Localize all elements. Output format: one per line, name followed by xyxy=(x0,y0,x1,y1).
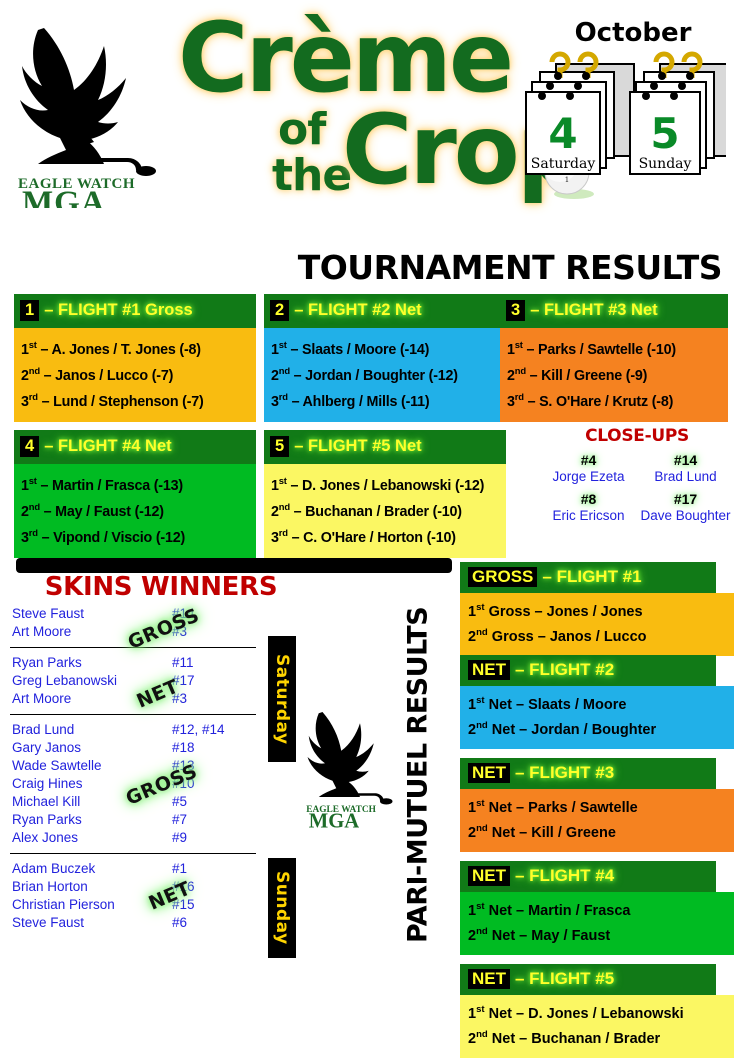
flight-body: 1st – D. Jones / Lebanowski (-12)2nd – B… xyxy=(264,464,506,558)
parimutuel-header: GROSS– FLIGHT #1 xyxy=(460,562,716,593)
skins-row: Steve Faust#14 xyxy=(8,604,258,622)
flight-number-badge: 1 xyxy=(20,300,39,321)
parimutuel-body: 1st Net – Slaats / Moore2nd Net – Jordan… xyxy=(460,686,734,749)
skins-hole: #5 xyxy=(172,794,187,809)
parimutuel-body: 1st Net – D. Jones / Lebanowski2nd Net –… xyxy=(460,995,734,1058)
closeups-grid: #4Jorge Ezeta#14Brad Lund#8Eric Ericson#… xyxy=(540,452,734,530)
skins-player-name: Brad Lund xyxy=(8,722,172,737)
calendar-day-number: 5 xyxy=(650,109,679,158)
parimutuel-result-row: 1st Net – Martin / Frasca xyxy=(468,898,732,923)
flight-result-row: 3rd – S. O'Hare / Krutz (-8) xyxy=(507,388,721,414)
parimutuel-title: – FLIGHT #1 xyxy=(542,567,641,587)
skins-row: Brad Lund#12, #14 xyxy=(8,720,258,738)
flight-result-row: 2nd – Janos / Lucco (-7) xyxy=(21,361,249,387)
parimutuel-title: – FLIGHT #2 xyxy=(515,660,614,680)
tournament-results-title: TOURNAMENT RESULTS xyxy=(0,248,722,287)
flight-number-badge: 5 xyxy=(270,436,289,457)
parimutuel-tag: NET xyxy=(468,969,510,989)
flight-header-2: 2– FLIGHT #2 Net xyxy=(264,294,506,328)
parimutuel-body: 1st Net – Parks / Sawtelle2nd Net – Kill… xyxy=(460,789,734,852)
skins-group: Brad Lund#12, #14Gary Janos#18Wade Sawte… xyxy=(8,720,258,849)
parimutuel-header: NET– FLIGHT #4 xyxy=(460,861,716,892)
skins-player-name: Wade Sawtelle xyxy=(8,758,172,773)
flight-number-badge: 4 xyxy=(20,436,39,457)
flight-result-row: 1st – Slaats / Moore (-14) xyxy=(271,335,499,361)
flight-result-row: 3rd – Lund / Stephenson (-7) xyxy=(21,388,249,414)
parimutuel-title: – FLIGHT #3 xyxy=(515,763,614,783)
flight-card-4: 4– FLIGHT #4 Net1st – Martin / Frasca (-… xyxy=(14,430,256,558)
parimutuel-result-row: 1st Net – Parks / Sawtelle xyxy=(468,795,732,820)
closeup-name: Dave Boughter xyxy=(637,508,734,523)
closeup-hole: #17 xyxy=(637,491,734,507)
flight-result-row: 2nd – Buchanan / Brader (-10) xyxy=(271,497,499,523)
flight-title: – FLIGHT #3 Net xyxy=(530,301,657,320)
closeup-entry: #17Dave Boughter xyxy=(637,491,734,523)
flight-header-3: 3– FLIGHT #3 Net xyxy=(500,294,728,328)
flight-result-row: 3rd – Ahlberg / Mills (-11) xyxy=(271,388,499,414)
parimutuel-card-4: NET– FLIGHT #41st Net – Martin / Frasca2… xyxy=(460,861,716,955)
flight-result-row: 1st – Parks / Sawtelle (-10) xyxy=(507,335,721,361)
parimutuel-vertical-title: PARI-MUTUEL RESULTS xyxy=(398,600,438,950)
skins-hole: #7 xyxy=(172,812,187,827)
closeup-name: Jorge Ezeta xyxy=(540,469,637,484)
calendar-month: October xyxy=(568,18,698,48)
title-the: the xyxy=(272,154,351,198)
day-label-sunday: Sunday xyxy=(268,858,296,958)
flight-title: – FLIGHT #4 Net xyxy=(44,437,171,456)
skins-separator xyxy=(10,714,256,715)
flight-title: – FLIGHT #5 Net xyxy=(294,437,421,456)
poster-header: EAGLE WATCH MGA Crème of the Crop Titlei… xyxy=(0,0,734,235)
flight-header-1: 1– FLIGHT #1 Gross xyxy=(14,294,256,328)
skins-hole: #12, #14 xyxy=(172,722,225,737)
parimutuel-tag: NET xyxy=(468,763,510,783)
parimutuel-tag: NET xyxy=(468,866,510,886)
parimutuel-result-row: 2nd Gross – Janos / Lucco xyxy=(468,624,732,649)
flight-result-row: 2nd – May / Faust (-12) xyxy=(21,497,249,523)
poster-page: EAGLE WATCH MGA Crème of the Crop Titlei… xyxy=(0,0,734,1058)
flight-card-5: 5– FLIGHT #5 Net1st – D. Jones / Lebanow… xyxy=(264,430,506,558)
skins-row: Adam Buczek#1 xyxy=(8,859,258,877)
flight-result-row: 1st – A. Jones / T. Jones (-8) xyxy=(21,335,249,361)
closeups-section: CLOSE-UPS #4Jorge Ezeta#14Brad Lund#8Eri… xyxy=(540,426,734,546)
parimutuel-result-row: 1st Net – D. Jones / Lebanowski xyxy=(468,1001,732,1026)
flight-card-2: 2– FLIGHT #2 Net1st – Slaats / Moore (-1… xyxy=(264,294,506,422)
closeup-hole: #14 xyxy=(637,452,734,468)
flight-number-badge: 3 xyxy=(506,300,525,321)
closeup-entry: #14Brad Lund xyxy=(637,452,734,484)
skins-player-name: Ryan Parks xyxy=(8,812,172,827)
skins-player-name: Gary Janos xyxy=(8,740,172,755)
calendar-day-number: 4 xyxy=(548,109,577,158)
skins-player-name: Steve Faust xyxy=(8,606,172,621)
parimutuel-tag: NET xyxy=(468,660,510,680)
skins-group: Steve Faust#14Art Moore#3GROSS xyxy=(8,604,258,643)
parimutuel-result-row: 2nd Net – Jordan / Boughter xyxy=(468,717,732,742)
closeups-title: CLOSE-UPS xyxy=(540,426,734,446)
calendar-saturday: 4 Saturday xyxy=(526,54,634,174)
parimutuel-body: 1st Gross – Jones / Jones2nd Gross – Jan… xyxy=(460,593,734,656)
closeup-entry: #4Jorge Ezeta xyxy=(540,452,637,484)
skins-hole: #6 xyxy=(172,915,187,930)
eagle-watch-mga-logo-small: EAGLE WATCH MGA xyxy=(300,692,400,832)
calendar-block: October 4 Saturday xyxy=(516,18,726,188)
title-creme: Crème xyxy=(178,10,511,106)
parimutuel-body: 1st Net – Martin / Frasca2nd Net – May /… xyxy=(460,892,734,955)
skins-separator xyxy=(10,853,256,854)
flight-body: 1st – Martin / Frasca (-13)2nd – May / F… xyxy=(14,464,256,558)
logo-text-mga: MGA xyxy=(309,811,359,832)
skins-player-name: Ryan Parks xyxy=(8,655,172,670)
flight-title: – FLIGHT #1 Gross xyxy=(44,301,193,320)
parimutuel-result-row: 2nd Net – May / Faust xyxy=(468,923,732,948)
skins-group: Ryan Parks#11Greg Lebanowski#17Art Moore… xyxy=(8,653,258,710)
day-label-saturday: Saturday xyxy=(268,636,296,762)
skins-row: Christian Pierson#15 xyxy=(8,895,258,913)
parimutuel-result-row: 2nd Net – Kill / Greene xyxy=(468,820,732,845)
skins-group: Adam Buczek#1Brian Horton#16Christian Pi… xyxy=(8,859,258,934)
skins-row: Brian Horton#16 xyxy=(8,877,258,895)
skins-row: Greg Lebanowski#17 xyxy=(8,671,258,689)
logo-text-mga: MGA xyxy=(22,185,106,208)
closeup-name: Eric Ericson xyxy=(540,508,637,523)
flight-header-5: 5– FLIGHT #5 Net xyxy=(264,430,506,464)
flight-number-badge: 2 xyxy=(270,300,289,321)
parimutuel-title: – FLIGHT #4 xyxy=(515,866,614,886)
parimutuel-header: NET– FLIGHT #3 xyxy=(460,758,716,789)
skins-row: Steve Faust#6 xyxy=(8,913,258,931)
closeup-entry: #8Eric Ericson xyxy=(540,491,637,523)
poster-title-block: Crème of the Crop Titleist 1 xyxy=(160,4,520,224)
flight-body: 1st – Slaats / Moore (-14)2nd – Jordan /… xyxy=(264,328,506,422)
parimutuel-tag: GROSS xyxy=(468,567,537,587)
flight-header-4: 4– FLIGHT #4 Net xyxy=(14,430,256,464)
flight-result-row: 1st – D. Jones / Lebanowski (-12) xyxy=(271,471,499,497)
skins-divider-bar xyxy=(16,558,452,573)
flight-body: 1st – Parks / Sawtelle (-10)2nd – Kill /… xyxy=(500,328,728,422)
parimutuel-header: NET– FLIGHT #2 xyxy=(460,655,716,686)
parimutuel-result-row: 1st Gross – Jones / Jones xyxy=(468,599,732,624)
skins-hole: #1 xyxy=(172,861,187,876)
parimutuel-card-5: NET– FLIGHT #51st Net – D. Jones / Leban… xyxy=(460,964,716,1058)
flight-result-row: 3rd – C. O'Hare / Horton (-10) xyxy=(271,524,499,550)
flight-result-row: 3rd – Vipond / Viscio (-12) xyxy=(21,524,249,550)
parimutuel-result-row: 1st Net – Slaats / Moore xyxy=(468,692,732,717)
skins-player-name: Brian Horton xyxy=(8,879,172,894)
skins-hole: #18 xyxy=(172,740,195,755)
flight-card-3: 3– FLIGHT #3 Net1st – Parks / Sawtelle (… xyxy=(500,294,728,422)
skins-hole: #9 xyxy=(172,830,187,845)
skins-player-name: Alex Jones xyxy=(8,830,172,845)
calendar-sunday: 5 Sunday xyxy=(630,54,726,174)
parimutuel-title: – FLIGHT #5 xyxy=(515,969,614,989)
calendar-weekday: Saturday xyxy=(531,156,596,172)
eagle-watch-mga-logo: EAGLE WATCH MGA xyxy=(8,8,168,208)
title-of: of xyxy=(278,108,325,152)
skins-player-name: Adam Buczek xyxy=(8,861,172,876)
skins-row: Wade Sawtelle#13 xyxy=(8,756,258,774)
skins-row: Ryan Parks#7 xyxy=(8,810,258,828)
parimutuel-header: NET– FLIGHT #5 xyxy=(460,964,716,995)
parimutuel-card-3: NET– FLIGHT #31st Net – Parks / Sawtelle… xyxy=(460,758,716,852)
calendar-weekday: Sunday xyxy=(639,156,692,172)
flight-title: – FLIGHT #2 Net xyxy=(294,301,421,320)
flight-result-row: 2nd – Kill / Greene (-9) xyxy=(507,361,721,387)
parimutuel-card-1: GROSS– FLIGHT #11st Gross – Jones / Jone… xyxy=(460,562,716,656)
skins-row: Ryan Parks#11 xyxy=(8,653,258,671)
flight-result-row: 1st – Martin / Frasca (-13) xyxy=(21,471,249,497)
parimutuel-result-row: 2nd Net – Buchanan / Brader xyxy=(468,1026,732,1051)
parimutuel-card-2: NET– FLIGHT #21st Net – Slaats / Moore2n… xyxy=(460,655,716,749)
flight-body: 1st – A. Jones / T. Jones (-8)2nd – Jano… xyxy=(14,328,256,422)
skins-list: Steve Faust#14Art Moore#3GROSSRyan Parks… xyxy=(8,604,258,934)
closeup-name: Brad Lund xyxy=(637,469,734,484)
closeup-hole: #4 xyxy=(540,452,637,468)
skins-row: Gary Janos#18 xyxy=(8,738,258,756)
flight-card-1: 1– FLIGHT #1 Gross1st – A. Jones / T. Jo… xyxy=(14,294,256,422)
flight-result-row: 2nd – Jordan / Boughter (-12) xyxy=(271,361,499,387)
skins-player-name: Steve Faust xyxy=(8,915,172,930)
skins-hole: #11 xyxy=(172,655,194,670)
skins-row: Alex Jones#9 xyxy=(8,828,258,846)
skins-winners-title: SKINS WINNERS xyxy=(16,572,306,602)
closeup-hole: #8 xyxy=(540,491,637,507)
